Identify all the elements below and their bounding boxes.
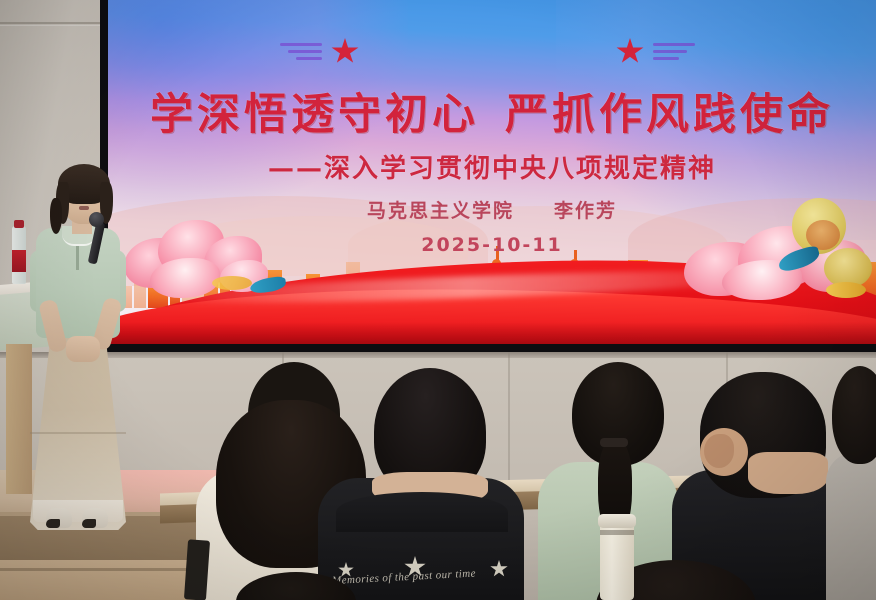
wall-seam xyxy=(0,22,104,24)
led-screen: 学深悟透守初心严抓作风践使命 ——深入学习贯彻中央八项规定精神 马克思主义学院李… xyxy=(108,0,876,344)
slide-date: 2025-10-11 xyxy=(108,234,876,256)
water-bottle-label xyxy=(12,250,26,272)
speaker-mouth xyxy=(79,206,89,210)
thermos-ring xyxy=(600,530,634,535)
red-star-icon xyxy=(331,38,359,65)
speed-lines-icon xyxy=(653,43,695,60)
water-bottle-cap xyxy=(14,220,24,228)
audience-shirt-collar xyxy=(336,492,508,532)
red-star-icon xyxy=(616,38,644,65)
peony-flower-left xyxy=(120,214,300,304)
back-wall-trim xyxy=(0,352,876,358)
speaker-hands xyxy=(66,336,100,362)
speaker-shoe-left xyxy=(46,508,72,528)
slide-presenter: 李作芳 xyxy=(554,200,617,222)
wall-seam-highlight xyxy=(0,25,104,26)
left-star-decoration xyxy=(280,38,359,65)
hair-tie xyxy=(600,438,628,447)
podium-stand xyxy=(6,344,32,494)
slide-subtitle: ——深入学习贯彻中央八项规定精神 xyxy=(108,148,876,185)
slide-byline: 马克思主义学院李作芳 xyxy=(108,196,876,223)
slide-title: 学深悟透守初心严抓作风践使命 xyxy=(108,80,876,142)
speaker-ponytail xyxy=(50,198,62,234)
slide-title-left: 学深悟透守初心 xyxy=(150,90,479,140)
right-star-decoration xyxy=(616,38,695,65)
speaker-skirt-seam xyxy=(30,432,126,434)
audience-ear-inner xyxy=(704,434,734,468)
speaker-shoe-right xyxy=(82,508,108,528)
slide-title-right: 严抓作风践使命 xyxy=(505,90,834,140)
slide-organization: 马克思主义学院 xyxy=(367,200,514,222)
chair-back xyxy=(184,539,210,600)
audience-body xyxy=(826,452,876,600)
lecture-hall-photo: 学深悟透守初心严抓作风践使命 ——深入学习贯彻中央八项规定精神 马克思主义学院李… xyxy=(0,0,876,600)
audience-neck xyxy=(748,452,828,494)
thermos-cap xyxy=(598,514,636,528)
speed-lines-icon xyxy=(280,43,322,60)
ribbon-shadow xyxy=(108,322,876,344)
audience-head xyxy=(832,366,876,464)
